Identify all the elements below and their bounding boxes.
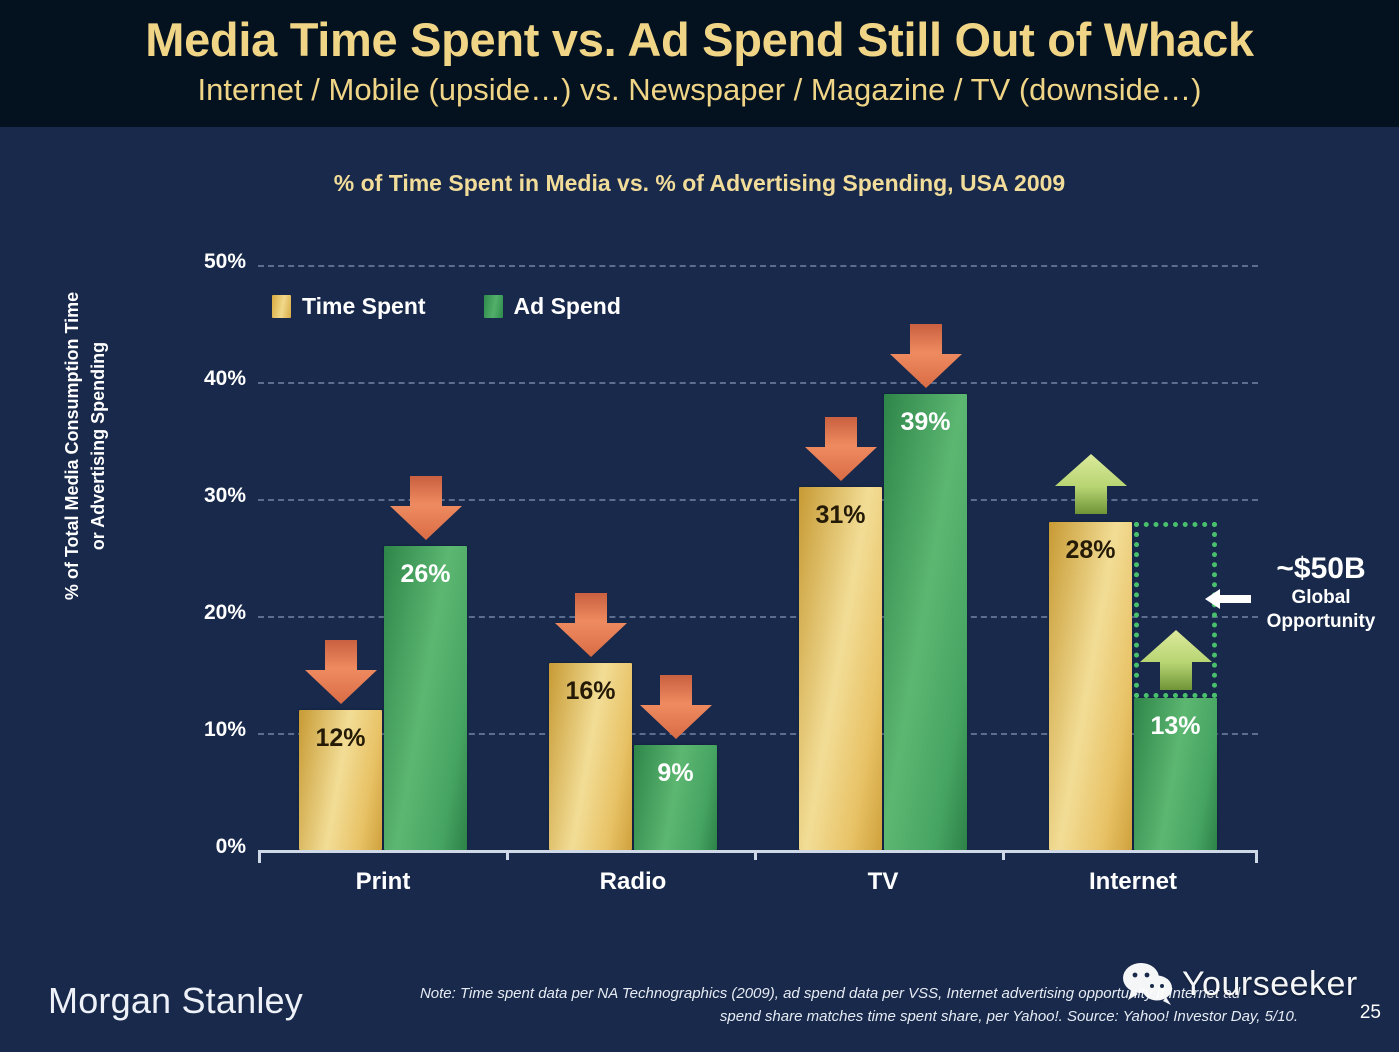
x-label-print: Print bbox=[273, 868, 493, 896]
page-number: 25 bbox=[1360, 1002, 1381, 1024]
down-arrow-icon-tv-ad-spend bbox=[888, 324, 964, 390]
bar-radio-ad-spend[interactable]: 9% bbox=[634, 745, 717, 850]
bar-tv-time-spent[interactable]: 31% bbox=[799, 487, 882, 850]
bar-value-tv-time-spent: 31% bbox=[799, 501, 882, 530]
morgan-stanley-logo: Morgan Stanley bbox=[48, 980, 303, 1022]
bar-value-print-time-spent: 12% bbox=[299, 724, 382, 753]
bar-internet-time-spent[interactable]: 28% bbox=[1049, 522, 1132, 850]
down-arrow-icon-radio-time-spent bbox=[553, 593, 629, 659]
annotation-amount: ~$50B bbox=[1243, 552, 1399, 586]
bar-value-internet-ad-spend: 13% bbox=[1134, 712, 1217, 741]
global-opportunity-annotation: ~$50B Global Opportunity bbox=[1243, 552, 1399, 634]
y-tick-label-40%: 40% bbox=[150, 367, 246, 391]
footnote-line1: Note: Time spent data per NA Technograph… bbox=[320, 982, 1340, 1005]
legend-item-ad-spend[interactable]: Ad Spend bbox=[484, 293, 621, 320]
y-tick-label-30%: 30% bbox=[150, 484, 246, 508]
bar-group-internet: 28%13% bbox=[1049, 265, 1217, 850]
down-arrow-icon-print-ad-spend bbox=[388, 476, 464, 542]
slide-subtitle: Internet / Mobile (upside…) vs. Newspape… bbox=[0, 72, 1399, 108]
y-axis-title-line1: % of Total Media Consumption Time bbox=[59, 146, 85, 746]
annotation-line3: Opportunity bbox=[1243, 610, 1399, 634]
y-tick-label-50%: 50% bbox=[150, 250, 246, 274]
down-arrow-icon-radio-ad-spend bbox=[638, 675, 714, 741]
x-axis-cap-right bbox=[1255, 850, 1258, 863]
slide-header-band: Media Time Spent vs. Ad Spend Still Out … bbox=[0, 0, 1399, 127]
y-axis-title: % of Total Media Consumption Time or Adv… bbox=[59, 146, 111, 746]
chart-legend: Time Spent Ad Spend bbox=[272, 293, 621, 320]
bar-internet-ad-spend[interactable]: 13% bbox=[1134, 698, 1217, 850]
x-axis-line bbox=[258, 850, 1258, 853]
x-axis-tick-2 bbox=[754, 850, 757, 860]
plot-area: 12%26%16%9%31%39%28%13% bbox=[258, 265, 1258, 850]
bar-value-internet-time-spent: 28% bbox=[1049, 536, 1132, 565]
legend-swatch-green-icon bbox=[484, 295, 503, 318]
bar-value-tv-ad-spend: 39% bbox=[884, 408, 967, 437]
y-tick-label-20%: 20% bbox=[150, 601, 246, 625]
footnote: Note: Time spent data per NA Technograph… bbox=[320, 982, 1340, 1028]
annotation-line2: Global bbox=[1243, 586, 1399, 610]
x-label-internet: Internet bbox=[1023, 868, 1243, 896]
legend-swatch-gold-icon bbox=[272, 295, 291, 318]
legend-label-time-spent: Time Spent bbox=[302, 293, 426, 320]
x-axis-cap-left bbox=[258, 850, 261, 863]
down-arrow-icon-tv-time-spent bbox=[803, 417, 879, 483]
bar-value-radio-time-spent: 16% bbox=[549, 677, 632, 706]
legend-item-time-spent[interactable]: Time Spent bbox=[272, 293, 426, 320]
up-arrow-icon-internet-time-spent bbox=[1053, 454, 1129, 516]
slide-title: Media Time Spent vs. Ad Spend Still Out … bbox=[0, 12, 1399, 67]
bar-value-print-ad-spend: 26% bbox=[384, 560, 467, 589]
bar-group-radio: 16%9% bbox=[549, 265, 717, 850]
y-tick-label-10%: 10% bbox=[150, 718, 246, 742]
x-axis-tick-3 bbox=[1002, 850, 1005, 860]
bar-print-ad-spend[interactable]: 26% bbox=[384, 546, 467, 850]
x-label-tv: TV bbox=[773, 868, 993, 896]
bar-group-tv: 31%39% bbox=[799, 265, 967, 850]
chart-title: % of Time Spent in Media vs. % of Advert… bbox=[0, 170, 1399, 197]
down-arrow-icon-print-time-spent bbox=[303, 640, 379, 706]
footnote-line2: spend share matches time spent share, pe… bbox=[320, 1005, 1340, 1028]
x-label-radio: Radio bbox=[523, 868, 743, 896]
bar-group-print: 12%26% bbox=[299, 265, 467, 850]
bar-print-time-spent[interactable]: 12% bbox=[299, 710, 382, 850]
y-tick-label-0%: 0% bbox=[150, 835, 246, 859]
bar-value-radio-ad-spend: 9% bbox=[634, 759, 717, 788]
x-axis-tick-1 bbox=[506, 850, 509, 860]
legend-label-ad-spend: Ad Spend bbox=[514, 293, 621, 320]
bar-radio-time-spent[interactable]: 16% bbox=[549, 663, 632, 850]
y-axis-title-line2: or Advertising Spending bbox=[85, 146, 111, 746]
bar-tv-ad-spend[interactable]: 39% bbox=[884, 394, 967, 850]
